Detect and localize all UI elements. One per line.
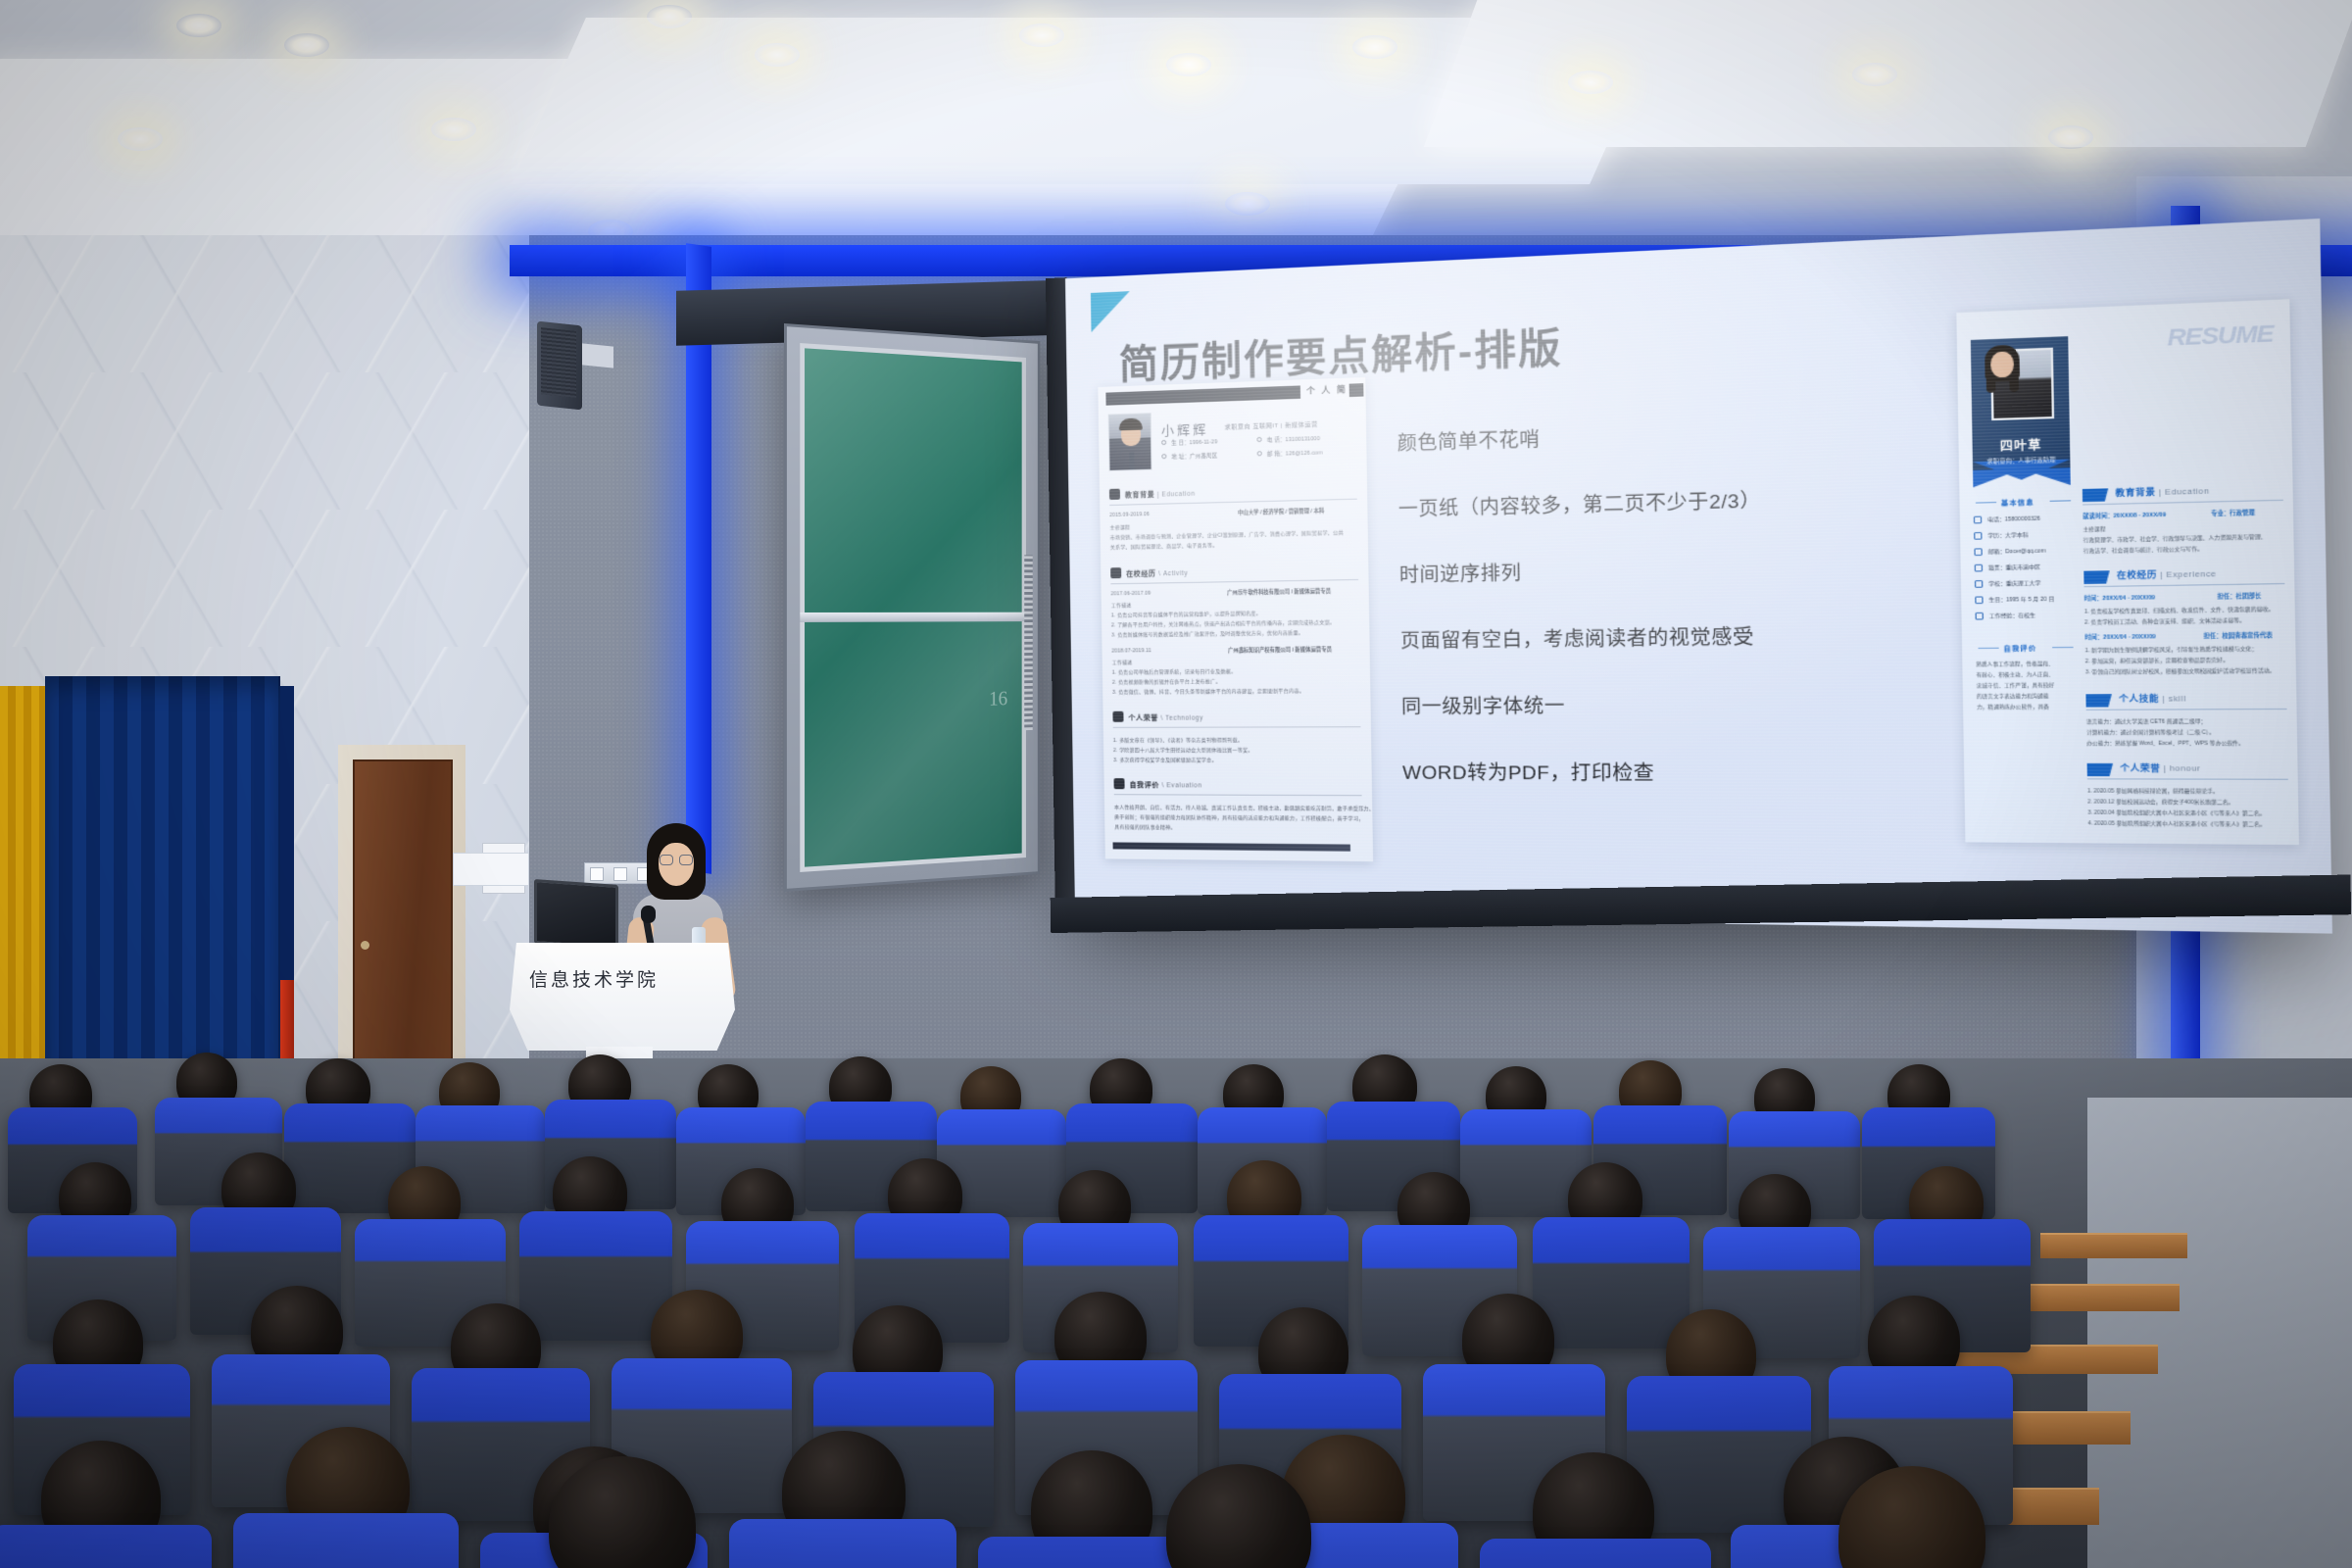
resume-header-bar-end xyxy=(1349,383,1364,397)
resume-org: 中山大学 / 经济学院 / 营销管理 / 本科 xyxy=(1238,508,1324,516)
resume-org: 广州鑫标知识产权有限公司 / 新媒体运营专员 xyxy=(1228,646,1332,654)
downlight-icon xyxy=(284,33,329,57)
section-rule xyxy=(1113,726,1361,728)
self-eval-line: 熟悉人事工作流程，性格温和、 xyxy=(1976,660,2054,667)
resume-name: 四叶草 xyxy=(1973,435,2071,455)
speaker-mount xyxy=(582,343,613,367)
self-eval-line: 的语言文字表达能力和沟通能 xyxy=(1977,692,2049,700)
seat[interactable] xyxy=(729,1519,956,1568)
seat[interactable] xyxy=(519,1211,672,1341)
downlight-icon xyxy=(431,118,476,141)
resume-body: 工作描述 xyxy=(1112,659,1133,665)
wall-sign xyxy=(453,853,529,886)
section-title-cn: 个人技能 xyxy=(2119,694,2159,704)
blackboard: 16 xyxy=(784,323,1040,892)
glasses-icon xyxy=(679,855,693,865)
self-eval-line: 忠诚守信、工作严谨，具有较好 xyxy=(1977,681,2055,689)
blackboard-marking: 16 xyxy=(989,686,1007,710)
glasses-icon xyxy=(660,855,673,865)
degree-icon xyxy=(1974,532,1982,540)
basic-info-line: 籍贯：重庆市渝中区 xyxy=(1988,563,2040,572)
resume-contact: 电 话：13100131000 xyxy=(1267,434,1320,444)
resume-org: 广州乐牛软件科技有限公司 / 新媒体运营专员 xyxy=(1227,588,1331,597)
resume-name: 小辉辉 xyxy=(1161,418,1209,439)
hometown-icon xyxy=(1975,564,1983,572)
resume-body: 2. 负责视频影像的剪辑并在各平台上发布推广。 xyxy=(1112,678,1221,686)
resume-body: 勇于创新；有很强的组织能力和团队协作精神，具有较强的适应能力和沟通能力，工作积极… xyxy=(1114,813,1364,822)
resume-meta: 时间：20XX/04 - 20XX/09 xyxy=(2084,594,2155,603)
resume-body: 2. 学院第四十八届大学生田径运动会大型团体操比赛一等奖。 xyxy=(1113,747,1253,754)
resume-meta: 就读时间：20XX/08 - 20XX/09 xyxy=(2082,511,2166,520)
slide-bullet: 页面留有空白，考虑阅读者的视觉感受 xyxy=(1400,619,1921,654)
downlight-icon xyxy=(1225,192,1270,216)
self-eval-title: 自我评价 xyxy=(2003,643,2036,653)
resume-body: 关系学、国际贸易理论、商品学、电子商务等。 xyxy=(1110,542,1218,551)
resume-meta: 专业：行政管理 xyxy=(2211,509,2255,517)
resume-body: 工作描述 xyxy=(1111,602,1132,609)
slide-bullet: 同一级别字体统一 xyxy=(1401,689,1922,719)
section-title-en: Experience xyxy=(2166,568,2216,579)
resume-body: 2. 了解各平台用户特性，关注网络热点，快速产出适合相应平台的传播内容，定期完成… xyxy=(1111,618,1335,628)
blackboard-glare xyxy=(805,348,1022,866)
microphone-icon xyxy=(641,906,656,923)
section-title-cn: 教育背景 xyxy=(2115,487,2155,498)
blackboard-divider xyxy=(800,612,1026,622)
resume-watermark: RESUME xyxy=(2167,319,2274,352)
section-title-en: Education xyxy=(2165,486,2210,497)
divider-dash xyxy=(1976,502,1996,504)
basic-info-line: 邮箱：Docer@qq.com xyxy=(1988,547,2046,556)
resume-section-title: 自我评价 \ Evaluation xyxy=(1129,780,1201,790)
divider-dash xyxy=(1978,648,1998,649)
resume-body: 3. 负责微信、微博、抖音、今日头条等新媒体平台的内容建设，定期更新平台内容。 xyxy=(1112,687,1304,695)
honour-icon xyxy=(2087,763,2114,776)
skill-icon xyxy=(2085,694,2112,707)
email-icon xyxy=(1257,451,1262,456)
basic-info-line: 学历：大学本科 xyxy=(1987,531,2028,539)
resume-body: 办公能力：熟练掌握 Word、Excel、PPT、WPS 等办公软件。 xyxy=(2086,739,2244,747)
resume-section-title: 个人技能 | skill xyxy=(2119,693,2186,706)
section-title-cn: 在校经历 xyxy=(1126,570,1156,578)
resume-section-title: 教育背景 | Education xyxy=(1125,489,1196,501)
resume-sample-left: 个 人 简 历 小辉辉 求职意向 互联网IT | 新媒体运营 生 日：1996-… xyxy=(1098,377,1373,861)
downlight-icon xyxy=(176,14,221,37)
birthday-icon xyxy=(1161,440,1166,445)
basic-info-line: 电话：15800000326 xyxy=(1987,514,2040,523)
resume-contact: 邮 箱：126@126.com xyxy=(1267,448,1323,458)
section-title-cn: 个人荣誉 xyxy=(1128,715,1158,722)
education-icon xyxy=(1109,489,1120,500)
resume-section-title: 个人荣誉 | honour xyxy=(2120,762,2200,774)
resume-section-title: 个人荣誉 \ Technology xyxy=(1128,712,1203,722)
education-icon xyxy=(2082,488,2109,502)
blackboard-surface xyxy=(800,343,1026,872)
resume-body: 行政管理学、市政学、社会学、行政领导与决策、人力资源开发与管理、 xyxy=(2083,533,2267,544)
resume-date: 2015.09-2019.06 xyxy=(1109,512,1150,518)
resume-meta: 担任：社团部长 xyxy=(2217,592,2261,600)
resume-body: 1. 多版文章在《领导》、《读者》等杂志类刊物得到刊载。 xyxy=(1113,737,1243,744)
section-rule xyxy=(2087,778,2288,780)
resume-body: 3. 负责新媒体账号的数据监控及推广效果评估，及时调整优化方向，优化内容质量。 xyxy=(1111,629,1303,638)
blackboard-track xyxy=(1024,555,1033,730)
downlight-icon xyxy=(1852,63,1897,86)
experience-icon xyxy=(1976,612,1984,620)
section-title-cn: 教育背景 xyxy=(1125,492,1155,500)
resume-photo xyxy=(1108,413,1152,471)
section-title-en: Activity xyxy=(1163,570,1188,578)
resume-date: 2017.06-2017.09 xyxy=(1111,591,1151,598)
divider-dash xyxy=(2052,647,2073,648)
section-rule xyxy=(2082,500,2283,506)
phone-icon xyxy=(1256,437,1261,442)
lecture-hall-photo: 16 简历制作要点解析-排版 颜色简单不花哨 一页纸（内容较多，第二页不少于2/… xyxy=(0,0,2352,1568)
resume-section-title: 在校经历 \ Activity xyxy=(1126,568,1188,579)
section-rule xyxy=(1110,579,1358,584)
resume-body: 行政法学、社会调查与统计、行政公文与写作。 xyxy=(2083,545,2203,555)
basic-info-title: 基本信息 xyxy=(2001,497,2034,508)
resume-body: 1. 负责公司单独后台管理系统，记录每日行业及数据。 xyxy=(1112,668,1237,676)
resume-body: 本人性格开朗、自信、有活力、待人热诚、真诚工作认真负责、积极主动、勤恳踏实能吃苦… xyxy=(1114,804,1373,812)
section-title-en: honour xyxy=(2170,763,2201,773)
location-icon xyxy=(1161,454,1166,459)
resume-body: 市场营销、市场调查与预测、企业管理学、企业CI策划原理、广告学、消费心理学、国际… xyxy=(1110,529,1344,541)
seat[interactable] xyxy=(0,1525,212,1568)
downlight-icon xyxy=(1568,71,1613,94)
self-eval-line: 力，精通熟练办公软件，具备 xyxy=(1977,703,2049,710)
section-title-en: skill xyxy=(2169,694,2186,704)
basic-info-line: 学校：重庆理工大学 xyxy=(1988,579,2040,587)
resume-body: 2. 参加运营，担任运营部部长，定期检查物品是否完好。 xyxy=(2085,657,2229,665)
self-eval-line: 有耐心、积极主动、为人正直、 xyxy=(1977,670,2055,678)
email-icon xyxy=(1974,548,1982,556)
resume-contact: 地 址：广州番禺区 xyxy=(1171,451,1217,460)
section-title-cn: 在校经历 xyxy=(2117,569,2157,580)
downlight-icon xyxy=(1352,35,1397,59)
section-title-en: Education xyxy=(1162,491,1196,499)
resume-section-title: 在校经历 | Experience xyxy=(2117,567,2217,581)
downlight-icon xyxy=(1166,53,1211,76)
section-title-cn: 个人荣誉 xyxy=(2120,763,2160,773)
resume-meta: 时间：20XX/04 - 20XX/09 xyxy=(2084,633,2155,642)
presentation-slide: 简历制作要点解析-排版 颜色简单不花哨 一页纸（内容较多，第二页不少于2/3） … xyxy=(1065,219,2332,934)
seat[interactable] xyxy=(1533,1217,1690,1348)
resume-job-target: 求职意向 互联网IT | 新媒体运营 xyxy=(1225,419,1318,431)
resume-body: 主修课程 xyxy=(1109,524,1130,532)
resume-body: 1. 2020.05 参加网络科技辩论赛，获得最佳辩论手。 xyxy=(2087,787,2219,795)
resume-footer-bar xyxy=(1113,842,1350,851)
downlight-icon xyxy=(647,5,692,28)
podium-monitor xyxy=(534,879,618,950)
resume-body: 1. 负责校友学校传真复印、扫描文档、收发信件、文件、快递包裹的接收。 xyxy=(2084,606,2275,615)
honour-icon xyxy=(1112,711,1123,722)
basic-info-line: 工作经验：在校生 xyxy=(1989,612,2035,619)
resume-body: 1. 新学期为新生塑例讲解学校风采，引导新生熟悉学校规模与文化； xyxy=(2085,645,2258,654)
resume-body: 4. 2020.05 参加院所组织大赛中人社区来港小区《亏等来人》第二名。 xyxy=(2088,819,2266,828)
corner-triangle-icon xyxy=(1091,291,1130,332)
section-rule xyxy=(2084,583,2285,587)
slide-bullet: 颜色简单不花哨 xyxy=(1397,413,1918,457)
door-knob[interactable] xyxy=(361,941,369,950)
resume-body: 3. 2020.04 参加院校组织大赛中人社区来港小区《亏等来人》第二名。 xyxy=(2087,808,2265,817)
resume-body: 计算机能力：通过全国计算机等级考试（二级 C）。 xyxy=(2086,728,2215,736)
resume-body: 3. 带领自己的团队树立好校风，积极参加文明校园爱护活动学校宣传活动。 xyxy=(2085,666,2276,675)
divider-dash xyxy=(2050,500,2071,502)
evaluation-icon xyxy=(1113,778,1124,789)
resume-body: 1. 负责公司抖音等自媒体平台的运营和维护，以提升品牌知名度。 xyxy=(1111,610,1261,618)
resume-contact: 生 日：1996-11-29 xyxy=(1171,437,1217,447)
photo-tie xyxy=(1129,452,1134,469)
projection-screen: 简历制作要点解析-排版 颜色简单不花哨 一页纸（内容较多，第二页不少于2/3） … xyxy=(1065,219,2332,934)
section-title-en: Evaluation xyxy=(1166,782,1201,789)
birthday-icon xyxy=(1975,596,1983,604)
slide-bullet: 一页纸（内容较多，第二页不少于2/3） xyxy=(1398,481,1919,521)
slide-bullet: 时间逆序排列 xyxy=(1399,551,1920,588)
phone-icon xyxy=(1974,516,1982,524)
photo-hair xyxy=(1119,418,1143,431)
resume-date: 2018.07-2019.11 xyxy=(1111,648,1151,654)
resume-body: 2. 负责学校员工活动、各种会议安排、组织、文体活动ま接等。 xyxy=(2084,616,2245,626)
downlight-icon xyxy=(1019,24,1064,47)
resume-body: 主修课程 xyxy=(2082,525,2105,533)
section-title-cn: 自我评价 xyxy=(1129,782,1159,789)
resume-header-bar xyxy=(1105,385,1300,405)
downlight-icon xyxy=(118,127,163,151)
resume-section-title: 教育背景 | Education xyxy=(2115,485,2209,499)
experience-icon xyxy=(2083,570,2110,584)
downlight-icon xyxy=(2048,125,2093,149)
seat[interactable] xyxy=(233,1513,459,1568)
switch-toggle[interactable] xyxy=(590,867,604,881)
downlight-icon xyxy=(755,43,800,67)
resume-body: 具有较强的团队事业精神。 xyxy=(1114,823,1176,831)
resume-body: 语言能力：通过大学英语 CET6 普通话二级甲； xyxy=(2086,717,2207,725)
section-rule xyxy=(1114,794,1362,796)
slide-bullet: WORD转为PDF，打印检查 xyxy=(1402,758,1924,786)
activity-icon xyxy=(1110,567,1121,578)
seat[interactable] xyxy=(1480,1539,1711,1568)
speaker-mesh-icon xyxy=(541,327,576,398)
slide-bullet-list: 颜色简单不花哨 一页纸（内容较多，第二页不少于2/3） 时间逆序排列 页面留有空… xyxy=(1397,413,1925,827)
resume-meta: 担任：校园青春宣传代表 xyxy=(2203,632,2272,641)
resume-sample-right: RESUME 四叶草 求职意向：人事行政助理 基本信息 电话：158000003… xyxy=(1956,299,2299,845)
section-rule xyxy=(2086,709,2287,710)
section-title-en: Technology xyxy=(1165,714,1203,721)
basic-info-line: 生日：1995 年 5 月 20 日 xyxy=(1988,595,2054,604)
resume-body: 2. 2020.12 参加校园远动会，获得女子400米长跑第二名。 xyxy=(2087,798,2234,806)
resume-body: 3. 多次获得学校奖学金及国家级励志奖学金。 xyxy=(1113,757,1217,763)
audience-seating xyxy=(0,980,2352,1568)
school-icon xyxy=(1975,580,1983,588)
